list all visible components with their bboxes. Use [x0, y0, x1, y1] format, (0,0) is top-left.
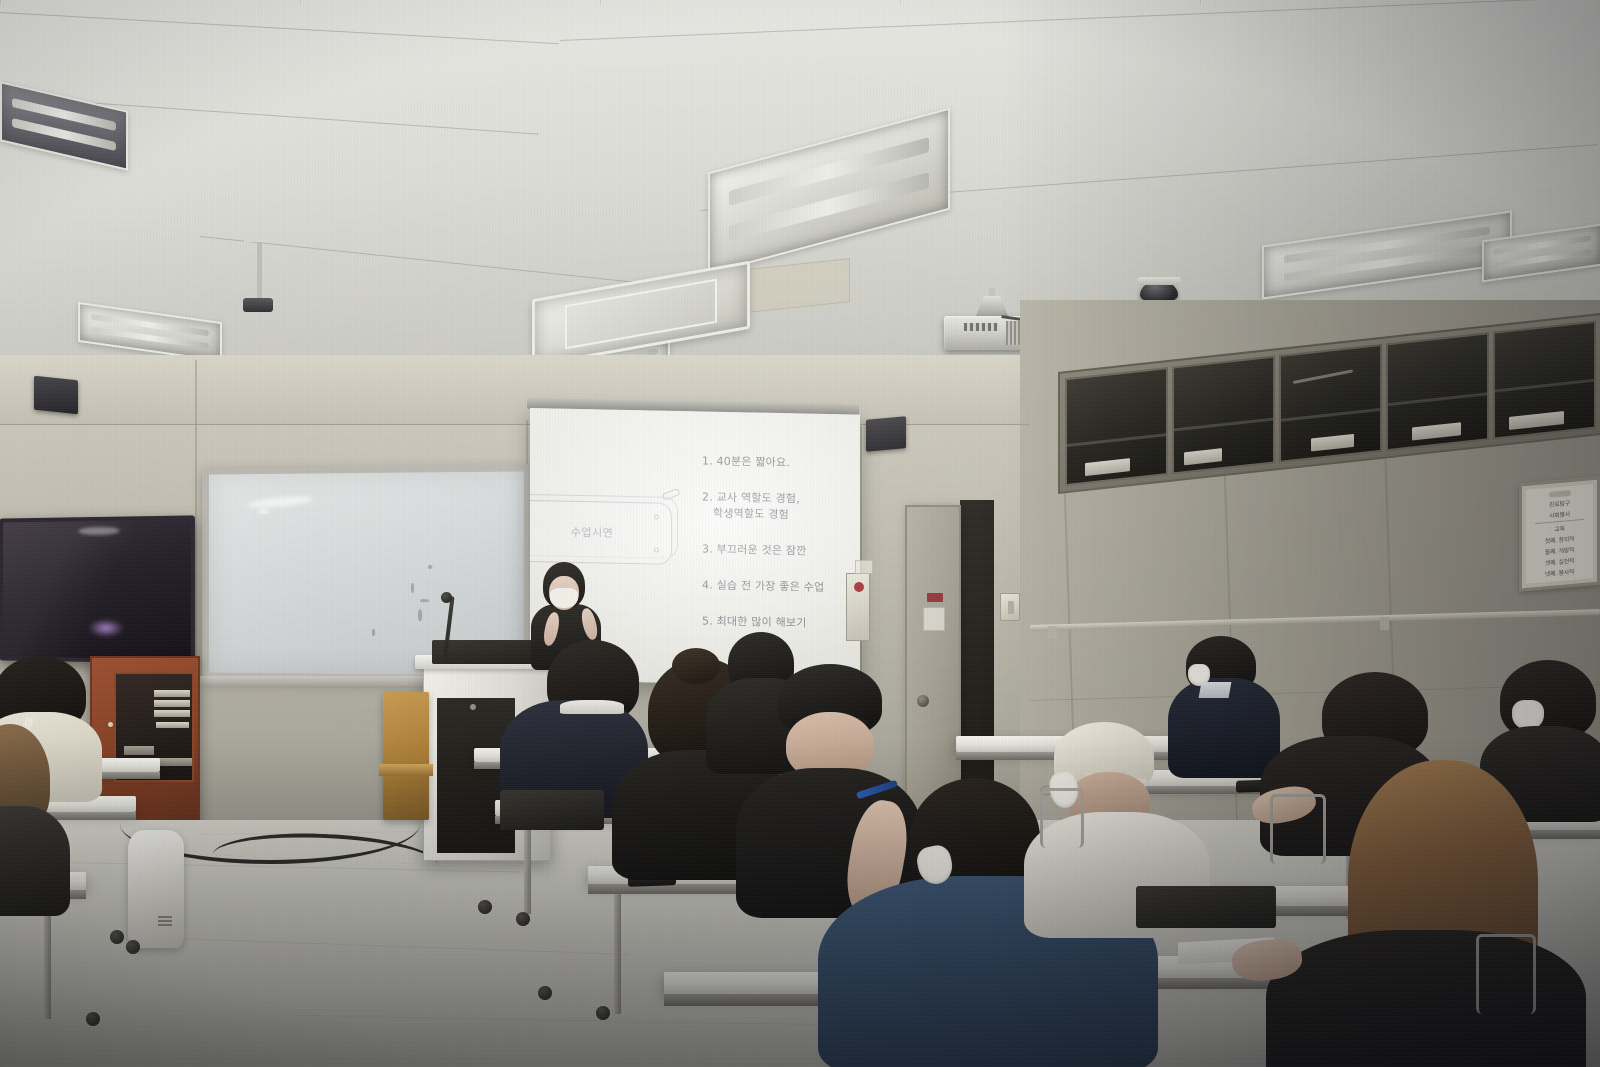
- poster-line-6: 셋째. 실천적: [1545, 556, 1574, 568]
- classroom-photo: 진로탐구 사회봉사 교육 첫째. 창의적 둘째. 개방적 셋째. 실천적 넷째.…: [0, 0, 1600, 1067]
- wall-notice: [855, 560, 873, 574]
- tv-sheen: [3, 520, 191, 660]
- microphone-head-icon: [441, 592, 452, 603]
- dress-shirt-collar: [1199, 682, 1232, 698]
- podium-knob[interactable]: [470, 704, 476, 710]
- slide-item-subtext: 학생역할도 경험: [702, 505, 852, 524]
- hair-bun: [672, 648, 720, 684]
- cabinet-compartment[interactable]: [1065, 367, 1168, 486]
- poster-badge: [1549, 490, 1571, 498]
- shirt-collar: [560, 700, 624, 714]
- cabinet-compartment[interactable]: [1493, 321, 1596, 440]
- chair-seat: [379, 764, 433, 776]
- poster-line-4: 첫째. 창의적: [1545, 534, 1574, 546]
- wall-speaker: [34, 376, 78, 415]
- ceiling-hanger-plate: [244, 236, 276, 242]
- ceiling-sensor: [243, 298, 273, 312]
- rail-bracket: [1048, 626, 1057, 639]
- emergency-alarm-box[interactable]: [846, 573, 870, 641]
- slide-bullet-list: 1. 40분은 짧아요. 2. 교사 역할도 경험, 학생역할도 경험 3. 부…: [702, 453, 852, 632]
- slide-item-text: 교사 역할도 경험,: [717, 491, 800, 506]
- alarm-button-icon[interactable]: [854, 582, 864, 592]
- face-mask: [550, 588, 578, 608]
- whiteboard-glare: [258, 509, 270, 515]
- poster-line-2: 사회봉사: [1549, 509, 1570, 520]
- poster-line-7: 넷째. 봉사적: [1545, 567, 1574, 579]
- slide-item: 2. 교사 역할도 경험, 학생역할도 경험: [702, 489, 852, 524]
- poster-line-1: 진로탐구: [1549, 498, 1570, 509]
- cabinet-compartment[interactable]: [1279, 344, 1382, 463]
- slide-item-number: 1.: [702, 454, 713, 467]
- slide-item-number: 5.: [702, 614, 713, 627]
- whiteboard-glare: [248, 495, 313, 510]
- slide-item-text: 40분은 짧아요.: [717, 455, 790, 469]
- slide-item-number: 2.: [702, 490, 713, 503]
- light-switch[interactable]: [1000, 593, 1020, 621]
- projector-buttons: [964, 323, 998, 331]
- cabinet-compartment[interactable]: [1386, 332, 1489, 451]
- door-notice: [923, 607, 945, 631]
- plastic-bag: [128, 830, 184, 948]
- slide-item-text: 부끄러운 것은 잠깐: [717, 543, 807, 558]
- chair-backrest[interactable]: [1136, 886, 1276, 928]
- slide-item-text: 최대한 많이 해보기: [717, 614, 807, 629]
- slide-item: 5. 최대한 많이 해보기: [702, 613, 852, 632]
- poster-line-5: 둘째. 개방적: [1545, 545, 1574, 557]
- slide-item: 4. 실습 전 가장 좋은 수업: [702, 577, 852, 596]
- poster-line-3: 교육: [1554, 524, 1564, 534]
- chair-frame[interactable]: [1040, 788, 1084, 848]
- rail-bracket: [1380, 617, 1389, 630]
- slide-tag-box: 수업시연: [530, 500, 672, 565]
- cabinet-compartment[interactable]: [1172, 355, 1275, 474]
- slide-item-number: 4.: [702, 578, 713, 591]
- cabinet-knob[interactable]: [108, 722, 113, 727]
- back-wall-upper-band: [0, 355, 1030, 425]
- wooden-chair[interactable]: [383, 692, 429, 820]
- slide-item-text: 실습 전 가장 좋은 수업: [717, 578, 825, 593]
- bag-print: [158, 914, 172, 926]
- wall-mounted-television[interactable]: [0, 515, 195, 663]
- slide-tag-label: 수업시연: [571, 524, 613, 541]
- wall-poster: 진로탐구 사회봉사 교육 첫째. 창의적 둘째. 개방적 셋째. 실천적 넷째.…: [1519, 476, 1600, 591]
- chair-backrest[interactable]: [500, 790, 604, 830]
- slide-item: 3. 부끄러운 것은 잠깐: [702, 541, 852, 560]
- wall-speaker: [866, 416, 906, 451]
- door-handle[interactable]: [917, 695, 929, 707]
- door-sign-icon: [927, 593, 943, 602]
- chair-frame[interactable]: [1476, 934, 1536, 1014]
- ceiling-hanger-rod: [257, 238, 262, 300]
- slide-item: 1. 40분은 짧아요.: [702, 453, 852, 472]
- chair-frame[interactable]: [1270, 794, 1326, 864]
- slide-item-number: 3.: [702, 542, 713, 555]
